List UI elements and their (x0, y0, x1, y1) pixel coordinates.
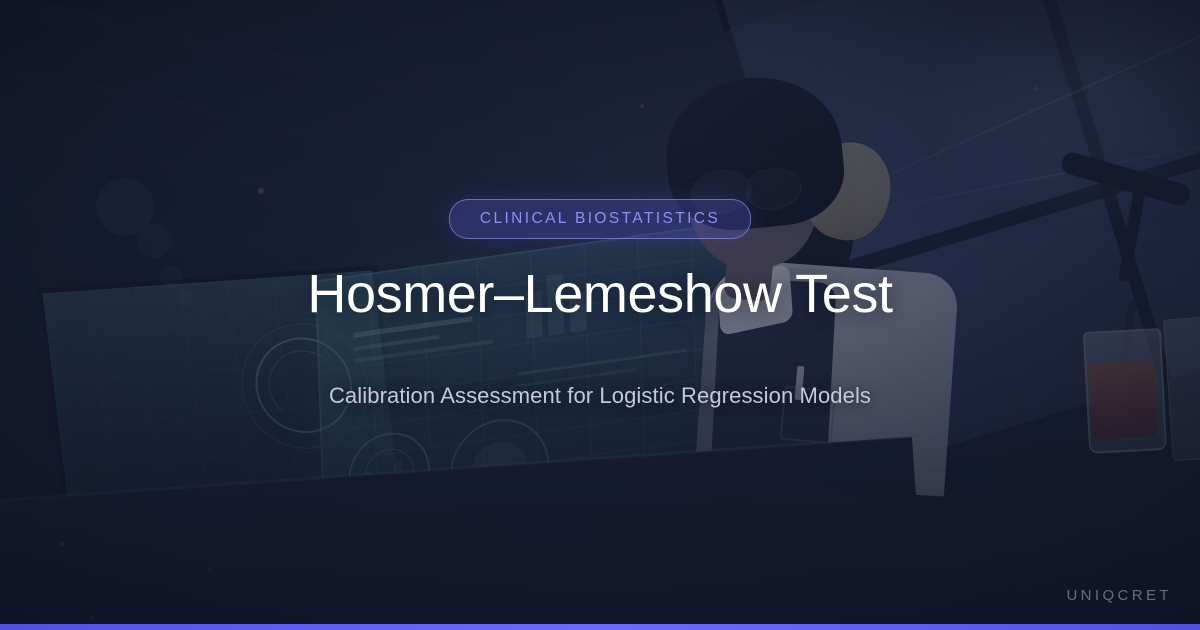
bottom-accent-bar (0, 624, 1200, 630)
page-subtitle: Calibration Assessment for Logistic Regr… (329, 383, 871, 409)
banner: CLINICAL BIOSTATISTICS Hosmer–Lemeshow T… (0, 0, 1200, 630)
page-title: Hosmer–Lemeshow Test (307, 263, 892, 325)
watermark: UNIQCRET (1066, 587, 1172, 604)
banner-content: CLINICAL BIOSTATISTICS Hosmer–Lemeshow T… (0, 0, 1200, 630)
category-badge: CLINICAL BIOSTATISTICS (449, 199, 751, 239)
